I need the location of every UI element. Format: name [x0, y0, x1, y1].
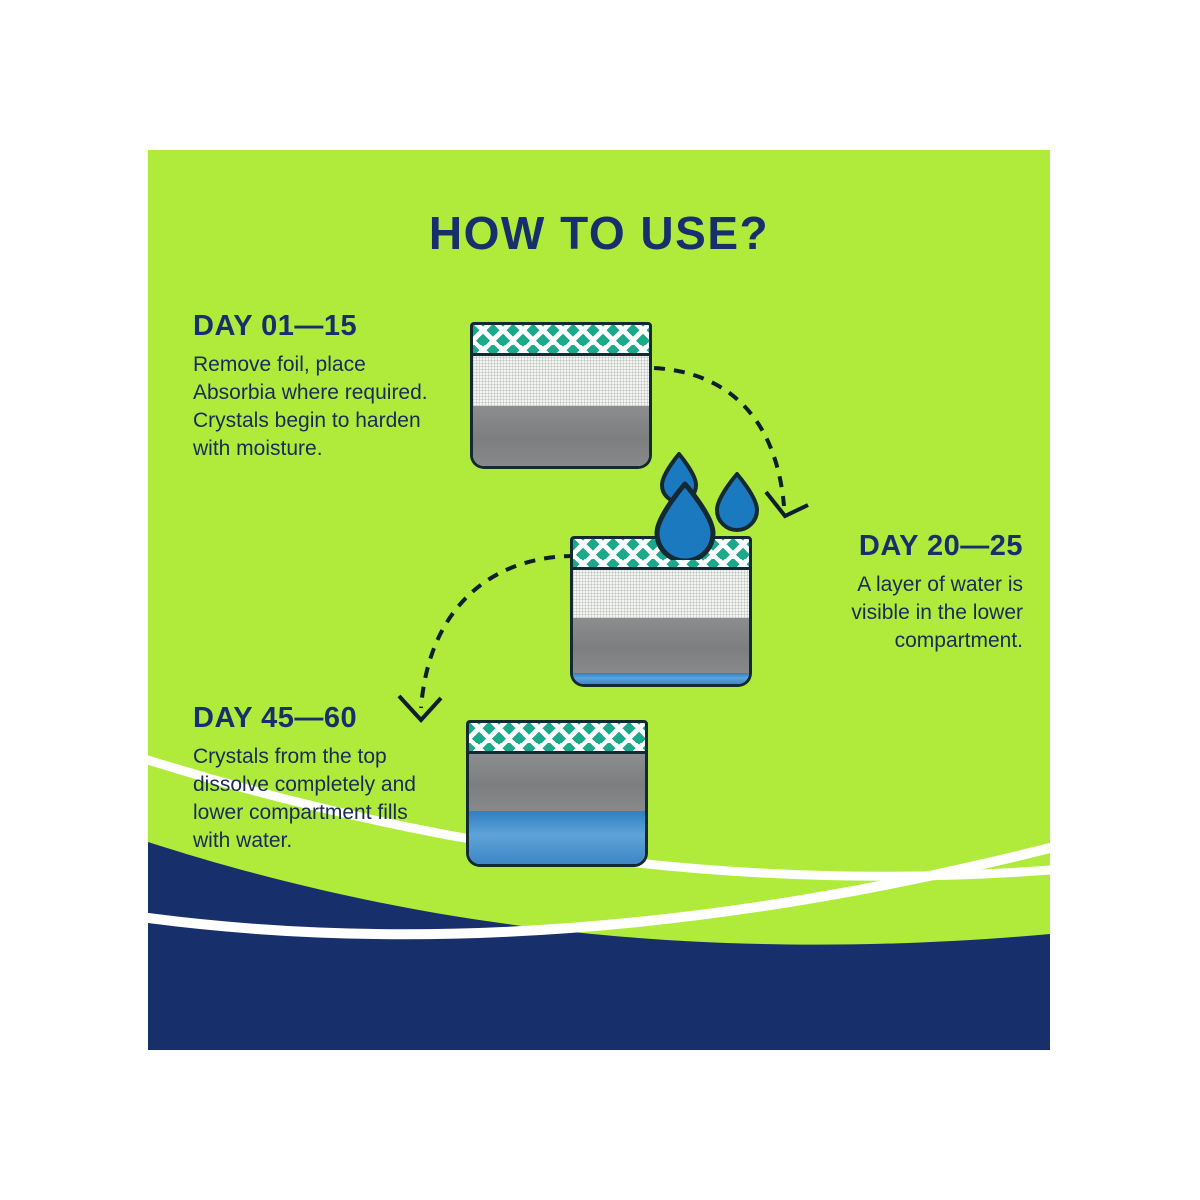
step-2-text-block: DAY 20—25 A layer of water is visible in…	[808, 530, 1023, 655]
step-2-day-label: DAY 20—25	[808, 530, 1023, 563]
step-1-body-text: Remove foil, place Absorbia where requir…	[193, 351, 453, 463]
water-droplets-group	[643, 450, 773, 560]
lattice-foil-lid-icon	[466, 720, 648, 754]
arrow-2-head	[399, 696, 441, 720]
arrow-2-path	[421, 556, 575, 708]
green-panel: HOW TO USE? DAY 01—15 Remove foil, place…	[148, 150, 1050, 1050]
water-layer	[573, 673, 749, 684]
jar-step-3	[466, 720, 648, 867]
jar-step-1	[470, 322, 652, 469]
step-1-text-block: DAY 01—15 Remove foil, place Absorbia wh…	[193, 310, 453, 463]
step-3-body-text: Crystals from the top dissolve completel…	[193, 743, 443, 855]
crystal-layer	[473, 356, 649, 406]
lattice-foil-lid-icon	[470, 322, 652, 356]
crystal-layer	[573, 570, 749, 618]
granule-layer	[473, 406, 649, 467]
jar-body-step-2	[570, 570, 752, 687]
jar-body-step-1	[470, 356, 652, 469]
water-layer	[469, 811, 645, 864]
water-drop-icon	[717, 474, 757, 530]
step-1-day-label: DAY 01—15	[193, 310, 453, 343]
page-title: HOW TO USE?	[148, 206, 1050, 260]
step-2-body-text: A layer of water is visible in the lower…	[808, 571, 1023, 655]
infographic-canvas: HOW TO USE? DAY 01—15 Remove foil, place…	[0, 0, 1200, 1200]
jar-body-step-3	[466, 754, 648, 867]
curved-dashed-arrow-icon-2	[393, 550, 583, 740]
granule-layer	[573, 618, 749, 673]
granule-layer	[469, 754, 645, 811]
